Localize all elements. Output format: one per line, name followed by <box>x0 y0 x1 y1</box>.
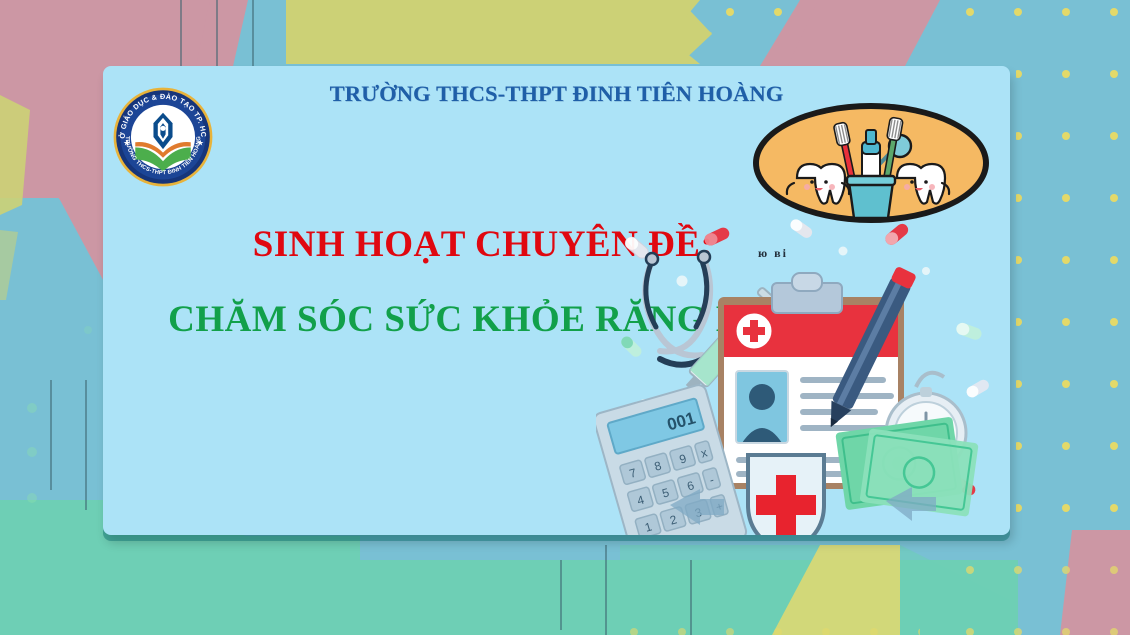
vertical-stripe <box>180 0 182 66</box>
yellow-wedge-bottom <box>772 545 900 635</box>
vertical-stripe <box>690 560 692 635</box>
vertical-stripe <box>605 545 607 635</box>
mint-band-bottom <box>0 536 1018 635</box>
medical-illustration: 001 7 8 9 x 4 5 6 - <box>596 219 1010 535</box>
logo-star-right: ★ <box>197 139 204 148</box>
pink-block-bottom-right <box>1060 530 1130 635</box>
faint-spot <box>27 493 37 503</box>
dots-right-column <box>1016 0 1130 530</box>
yellow-sliver-left <box>0 95 30 215</box>
dots-top-right <box>930 0 1016 66</box>
olive-block-top <box>286 0 700 64</box>
vertical-stripe <box>85 380 87 510</box>
title-card: SỞ GIÁO DỤC & ĐÀO TẠO TP. HCM TRƯỜNG THC… <box>103 66 1010 535</box>
pink-block-top-right <box>760 0 922 66</box>
health-shield-icon <box>748 455 824 535</box>
olive-chevron-top <box>286 0 712 64</box>
mint-rect-bottom <box>0 536 360 635</box>
dots-bottom-right <box>930 560 1130 635</box>
dental-care-badge <box>750 100 992 226</box>
faint-spot <box>27 447 37 457</box>
stethoscope-earpiece <box>698 251 710 263</box>
dots-top-mid <box>700 0 804 66</box>
logo-star-left: ★ <box>123 139 130 148</box>
olive-chevron-arrow <box>660 0 712 64</box>
faint-spot <box>27 403 37 413</box>
stethoscope-earpiece <box>646 253 658 265</box>
faint-spot <box>84 326 92 334</box>
mint-right-chunk <box>620 545 1010 635</box>
toothbrush-cup-icon <box>847 176 895 218</box>
dots-bottom-mid <box>620 580 920 635</box>
pink-rect-bottom-right <box>1072 535 1130 635</box>
vertical-stripe <box>50 380 52 490</box>
pink-band-upper-right <box>788 0 940 66</box>
yellow-sliver-left-2 <box>0 230 18 300</box>
vertical-stripe <box>560 560 562 630</box>
presentation-slide: SỞ GIÁO DỤC & ĐÀO TẠO TP. HCM TRƯỜNG THC… <box>0 0 1130 635</box>
